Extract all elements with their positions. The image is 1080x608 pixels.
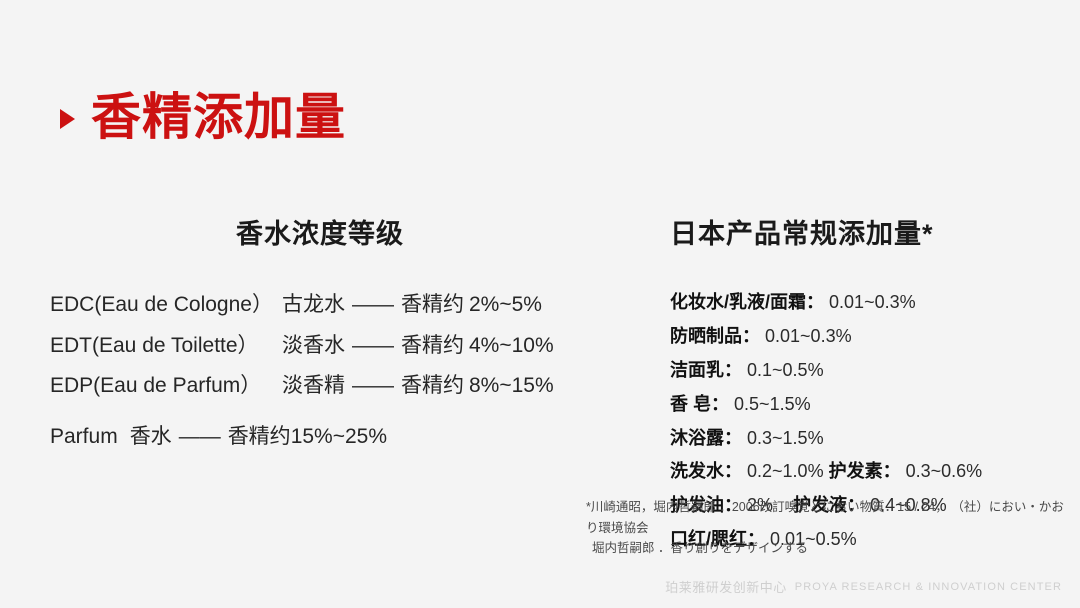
footnote: *川崎通昭，堀内哲嗣郎 ．2006改訂嗅覚とにおい物質．15 / 24， （社）… (586, 497, 1066, 559)
list-item: 防晒制品： 0.01~0.3% (670, 323, 1050, 351)
dose-value: 0.5~1.5% (734, 394, 811, 414)
dose-label: 防晒制品： (670, 326, 760, 346)
dose-value-secondary: 0.3~0.6% (906, 461, 983, 481)
dash-separator: —— (352, 370, 394, 402)
perfume-amount-label: 香精约 (401, 330, 464, 362)
perfume-amount-value: 2%~5% (469, 289, 542, 321)
perfume-cn-name: 古龙水 (282, 289, 345, 321)
footnote-line-2: 堀内哲嗣郎 ．香り創りをデザインする (586, 538, 1066, 559)
page-title: 香精添加量 (60, 92, 346, 142)
triangle-right-icon (60, 109, 75, 129)
dose-value: 0.2~1.0% (747, 461, 824, 481)
dose-value: 0.1~0.5% (747, 360, 824, 380)
page-title-text: 香精添加量 (91, 92, 346, 142)
list-item: Parfum 香水 —— 香精约 15%~25% (50, 421, 590, 453)
perfume-amount-value: 8%~15% (469, 370, 554, 402)
perfume-concentration-section: 香水浓度等级 EDC(Eau de Cologne） 古龙水 —— 香精约 2%… (50, 212, 590, 461)
perfume-amount-value: 15%~25% (291, 421, 387, 453)
brand-name-cn: 珀莱雅研发创新中心 (665, 577, 787, 596)
perfume-abbr: EDT(Eau de Toilette） (50, 330, 282, 362)
footnote-line-1: *川崎通昭，堀内哲嗣郎 ．2006改訂嗅覚とにおい物質．15 / 24， （社）… (586, 497, 1066, 538)
dose-label: 化妆水/乳液/面霜： (670, 292, 824, 312)
dose-value: 0.01~0.3% (829, 292, 916, 312)
list-item: EDT(Eau de Toilette） 淡香水 —— 香精约 4%~10% (50, 330, 590, 362)
perfume-amount-value: 4%~10% (469, 330, 554, 362)
perfume-amount-label: 香精约 (401, 370, 464, 402)
list-item: 沐浴露： 0.3~1.5% (670, 425, 1050, 453)
list-item: 化妆水/乳液/面霜： 0.01~0.3% (670, 289, 1050, 317)
list-item: EDP(Eau de Parfum） 淡香精 —— 香精约 8%~15% (50, 370, 590, 402)
dash-separator: —— (352, 289, 394, 321)
footer-brand: 珀莱雅研发创新中心 PROYA RESEARCH & INNOVATION CE… (665, 577, 1062, 596)
list-item: EDC(Eau de Cologne） 古龙水 —— 香精约 2%~5% (50, 289, 590, 321)
dose-value: 0.01~0.3% (765, 326, 852, 346)
dose-label: 洁面乳： (670, 360, 742, 380)
perfume-abbr: Parfum (50, 421, 118, 453)
list-item: 洗发水： 0.2~1.0% 护发素： 0.3~0.6% (670, 458, 1050, 486)
perfume-cn-name: 淡香精 (282, 370, 345, 402)
perfume-abbr: EDP(Eau de Parfum） (50, 370, 282, 402)
left-column-heading: 香水浓度等级 (50, 212, 590, 251)
list-item: 洁面乳： 0.1~0.5% (670, 357, 1050, 385)
dose-label: 沐浴露： (670, 428, 742, 448)
perfume-abbr: EDC(Eau de Cologne） (50, 289, 282, 321)
perfume-amount-label: 香精约 (228, 421, 291, 453)
dose-label: 香 皂： (670, 394, 729, 414)
dash-separator: —— (179, 421, 221, 453)
brand-name-en: PROYA RESEARCH & INNOVATION CENTER (795, 581, 1062, 593)
dash-separator: —— (352, 330, 394, 362)
perfume-cn-name: 香水 (130, 421, 172, 453)
perfume-amount-label: 香精约 (401, 289, 464, 321)
dose-label-secondary: 护发素： (829, 461, 901, 481)
dose-value: 0.3~1.5% (747, 428, 824, 448)
list-item: 香 皂： 0.5~1.5% (670, 391, 1050, 419)
perfume-cn-name: 淡香水 (282, 330, 345, 362)
dose-label: 洗发水： (670, 461, 742, 481)
right-column-heading: 日本产品常规添加量* (670, 212, 1050, 251)
